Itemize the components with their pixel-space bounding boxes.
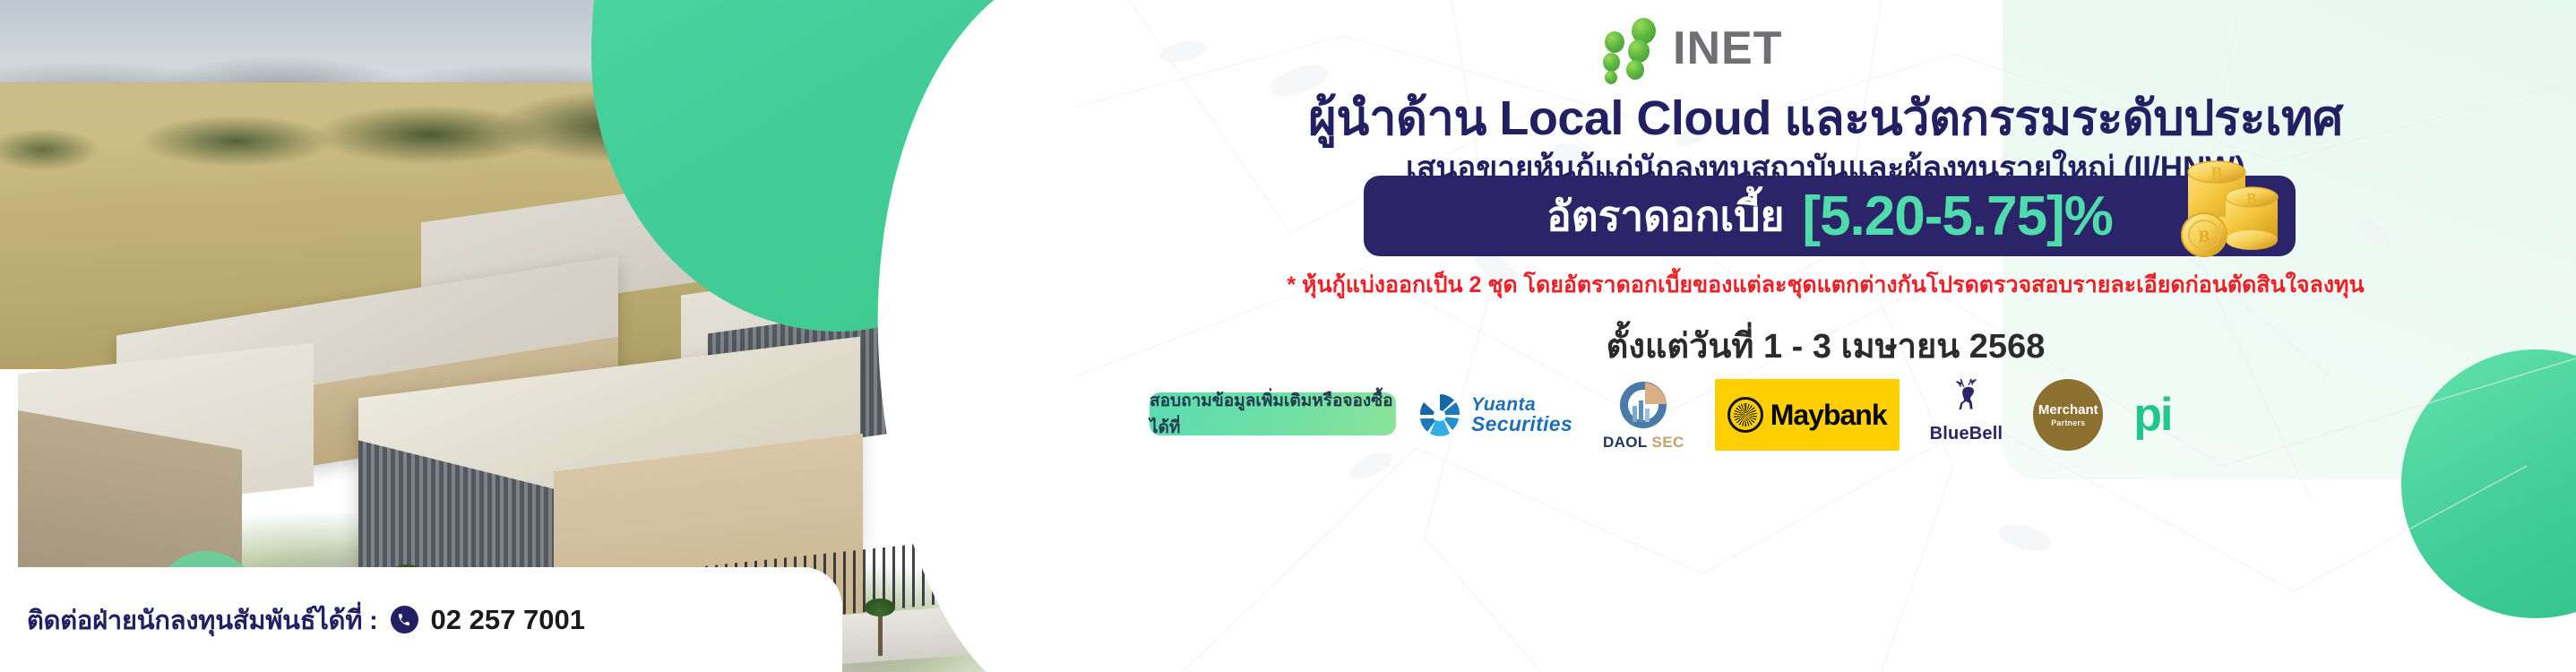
partner-logo-pi[interactable]: pi (2133, 379, 2171, 451)
merchant-partners-logo-icon: Merchant Partners (2033, 379, 2103, 451)
interest-rate-label: อัตราดอกเบี้ย (1546, 184, 1784, 249)
daol-sec-wordmark: DAOL SEC (1603, 434, 1684, 452)
phone-icon (391, 606, 418, 633)
partner-logos-row: Yuanta Securities DAOL SE (1416, 375, 2572, 455)
bluebell-deer-icon (1930, 379, 2003, 424)
daol-sec-logo-icon (1617, 379, 1669, 431)
partner-logo-daol-sec[interactable]: DAOL SEC (1603, 379, 1684, 451)
maybank-tiger-icon (1727, 397, 1763, 433)
photo-palm-crown (865, 599, 895, 616)
pi-logo-icon: pi (2133, 394, 2171, 436)
inet-dots-logo-icon (1590, 16, 1667, 79)
contact-phone-number[interactable]: 02 257 7001 (431, 604, 585, 636)
svg-text:B: B (2199, 228, 2210, 246)
bitcoin-coin-stack-icon: B B B (2175, 152, 2292, 258)
maybank-wordmark: Maybank (1770, 399, 1887, 432)
bluebell-wordmark: BlueBell (1930, 424, 2003, 444)
partner-logo-bluebell[interactable]: BlueBell (1930, 379, 2003, 451)
partner-logo-maybank[interactable]: Maybank (1715, 379, 1900, 451)
inet-logo-wordmark: INET (1673, 25, 1782, 72)
merchant-line1: Merchant (2038, 403, 2098, 417)
interest-rate-value: [5.20-5.75]% (1802, 185, 2112, 248)
partner-logo-yuanta[interactable]: Yuanta Securities (1416, 379, 1572, 451)
promotional-banner: ติดต่อฝ่ายนักลงทุนสัมพันธ์ได้ที่ : 02 25… (0, 0, 2576, 672)
inet-logo: INET (1590, 16, 1859, 79)
cta-label: สอบถามข้อมูลเพิ่มเติมหรือจองซื้อได้ที่ (1150, 387, 1396, 441)
yuanta-wordmark: Yuanta Securities (1471, 395, 1572, 435)
yuanta-logo-icon (1416, 391, 1464, 439)
offering-dateline: ตั้งแต่วันที่ 1 - 3 เมษายน 2568 (1075, 318, 2576, 373)
investor-relations-contact-card: ติดต่อฝ่ายนักลงทุนสัมพันธ์ได้ที่ : 02 25… (0, 567, 842, 672)
interest-rate-box: อัตราดอกเบี้ย [5.20-5.75]% (1364, 176, 2296, 256)
content-panel: INET ผู้นำด้าน Local Cloud และนวัตกรรมระ… (1075, 0, 2576, 672)
svg-text:B: B (2246, 190, 2256, 207)
inquiry-cta-button[interactable]: สอบถามข้อมูลเพิ่มเติมหรือจองซื้อได้ที่ (1150, 392, 1396, 435)
svg-text:B: B (2211, 164, 2223, 183)
partner-logo-merchant-partners[interactable]: Merchant Partners (2033, 379, 2103, 451)
contact-label: ติดต่อฝ่ายนักลงทุนสัมพันธ์ได้ที่ : (27, 599, 378, 641)
merchant-line2: Partners (2051, 418, 2085, 427)
disclaimer-footnote: * หุ้นกู้แบ่งออกเป็น 2 ชุด โดยอัตราดอกเบ… (1075, 267, 2576, 303)
